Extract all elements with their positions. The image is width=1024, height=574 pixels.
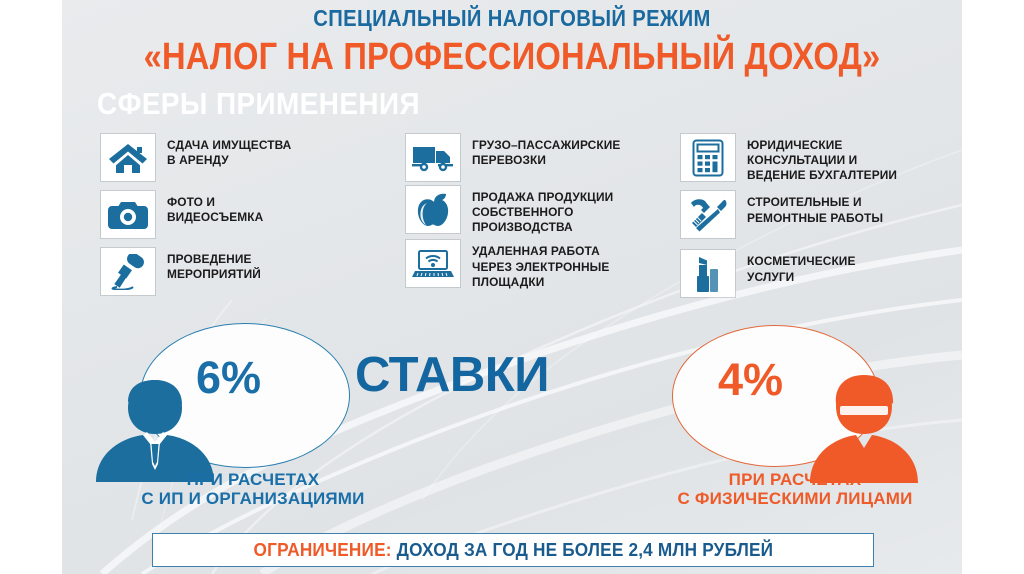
spheres-column-2: ГРУЗО–ПАССАЖИРСКИЕПЕРЕВОЗКИ ПРОДАЖА ПРОД… <box>406 134 676 297</box>
rate-caption-left: ПРИ РАСЧЕТАХ С ИП И ОРГАНИЗАЦИЯМИ <box>88 470 418 508</box>
limit-value: ДОХОД ЗА ГОД НЕ БОЛЕЕ 2,4 МЛН РУБЛЕЙ <box>396 539 773 560</box>
list-item: КОСМЕТИЧЕСКИЕУСЛУГИ <box>681 250 966 297</box>
truck-icon <box>406 134 460 181</box>
list-item-label: ПРОДАЖА ПРОДУКЦИИСОБСТВЕННОГОПРОИЗВОДСТВ… <box>472 186 613 235</box>
microphone-icon <box>101 248 155 295</box>
spheres-column-1: СДАЧА ИМУЩЕСТВАВ АРЕНДУ ФОТО ИВИДЕОСЪЕМК… <box>101 134 401 302</box>
list-item: ФОТО ИВИДЕОСЪЕМКА <box>101 191 401 238</box>
person-icon <box>800 372 928 484</box>
camera-icon <box>101 191 155 238</box>
rate-value-right: 4% <box>718 354 783 406</box>
rate-caption-left-line2: С ИП И ОРГАНИЗАЦИЯМИ <box>88 489 418 508</box>
limit-label: ОГРАНИЧЕНИЕ: <box>253 539 391 560</box>
list-item: ПРОДАЖА ПРОДУКЦИИСОБСТВЕННОГОПРОИЗВОДСТВ… <box>406 186 676 235</box>
house-icon <box>101 134 155 181</box>
list-item-label: СТРОИТЕЛЬНЫЕ ИРЕМОНТНЫЕ РАБОТЫ <box>747 191 883 225</box>
hammer-screwdriver-icon <box>681 191 735 238</box>
list-item-label: ГРУЗО–ПАССАЖИРСКИЕПЕРЕВОЗКИ <box>472 134 620 168</box>
list-item: СДАЧА ИМУЩЕСТВАВ АРЕНДУ <box>101 134 401 181</box>
infographic-slide: СПЕЦИАЛЬНЫЙ НАЛОГОВЫЙ РЕЖИМ «НАЛОГ НА ПР… <box>0 0 1024 574</box>
limit-banner: ОГРАНИЧЕНИЕ: ДОХОД ЗА ГОД НЕ БОЛЕЕ 2,4 М… <box>152 533 874 567</box>
laptop-wifi-icon <box>406 240 460 287</box>
list-item: ГРУЗО–ПАССАЖИРСКИЕПЕРЕВОЗКИ <box>406 134 676 181</box>
list-item: СТРОИТЕЛЬНЫЕ ИРЕМОНТНЫЕ РАБОТЫ <box>681 191 966 238</box>
calculator-icon <box>681 134 735 181</box>
rate-value-left: 6% <box>196 352 261 404</box>
list-item-label: ПРОВЕДЕНИЕМЕРОПРИЯТИЙ <box>167 248 261 282</box>
page-title-line1: СПЕЦИАЛЬНЫЙ НАЛОГОВЫЙ РЕЖИМ <box>61 5 962 32</box>
list-item-label: СДАЧА ИМУЩЕСТВАВ АРЕНДУ <box>167 134 291 168</box>
lipstick-icon <box>681 250 735 297</box>
limit-text: ОГРАНИЧЕНИЕ: ДОХОД ЗА ГОД НЕ БОЛЕЕ 2,4 М… <box>253 539 773 561</box>
list-item-label: ФОТО ИВИДЕОСЪЕМКА <box>167 191 263 225</box>
rate-caption-left-line1: ПРИ РАСЧЕТАХ <box>88 470 418 489</box>
apple-icon <box>406 186 460 233</box>
spheres-column-3: ЮРИДИЧЕСКИЕКОНСУЛЬТАЦИИ ИВЕДЕНИЕ БУХГАЛТ… <box>681 134 966 304</box>
list-item: УДАЛЕННАЯ РАБОТАЧЕРЕЗ ЭЛЕКТРОННЫЕПЛОЩАДК… <box>406 240 676 289</box>
list-item-label: УДАЛЕННАЯ РАБОТАЧЕРЕЗ ЭЛЕКТРОННЫЕПЛОЩАДК… <box>472 240 609 289</box>
rate-caption-right: ПРИ РАСЧЕТАХ С ФИЗИЧЕСКИМИ ЛИЦАМИ <box>630 470 960 508</box>
list-item-label: КОСМЕТИЧЕСКИЕУСЛУГИ <box>747 250 855 284</box>
list-item: ПРОВЕДЕНИЕМЕРОПРИЯТИЙ <box>101 248 401 295</box>
rate-caption-right-line2: С ФИЗИЧЕСКИМИ ЛИЦАМИ <box>630 489 960 508</box>
list-item: ЮРИДИЧЕСКИЕКОНСУЛЬТАЦИИ ИВЕДЕНИЕ БУХГАЛТ… <box>681 134 966 183</box>
rates-title: СТАВКИ <box>355 347 549 403</box>
list-item-label: ЮРИДИЧЕСКИЕКОНСУЛЬТАЦИИ ИВЕДЕНИЕ БУХГАЛТ… <box>747 134 897 183</box>
page-title-line2: «НАЛОГ НА ПРОФЕССИОНАЛЬНЫЙ ДОХОД» <box>72 36 953 79</box>
rate-caption-right-line1: ПРИ РАСЧЕТАХ <box>630 470 960 489</box>
section-title-spheres: СФЕРЫ ПРИМЕНЕНИЯ <box>97 86 420 122</box>
